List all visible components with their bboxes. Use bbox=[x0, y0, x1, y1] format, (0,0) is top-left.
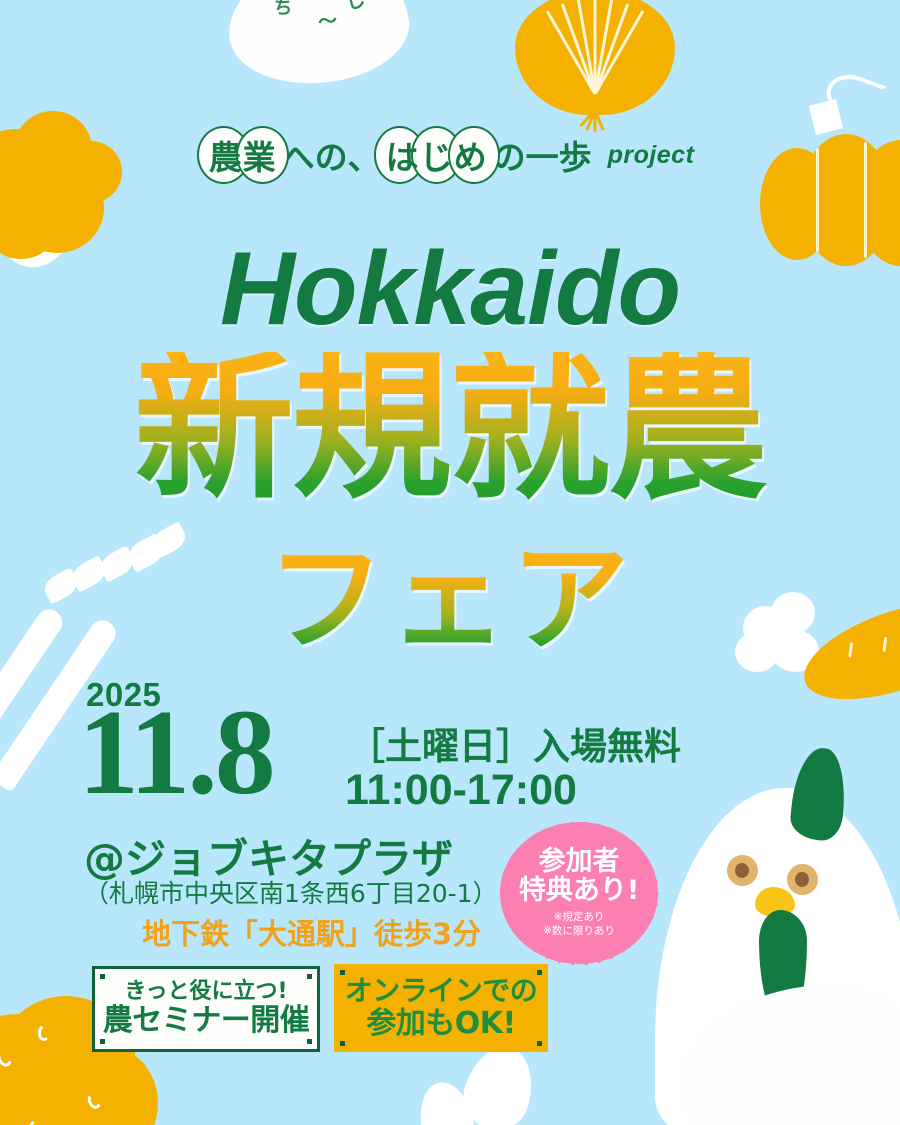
callout-row: きっと役に立つ! 農セミナー開催 オンラインでの 参加もOK! bbox=[0, 966, 900, 1052]
badge-line-2: 特典あり! bbox=[519, 876, 639, 905]
seminar-callout-line-2: 農セミナー開催 bbox=[103, 1004, 310, 1038]
tagline: 農業 への、 はじめ の一歩 project bbox=[0, 131, 900, 179]
badge-line-1: 参加者 bbox=[539, 847, 620, 876]
poster-canvas: ち ～ し bbox=[0, 0, 900, 1125]
badge-content: 参加者 特典あり! ※規定あり ※数に限りあり bbox=[500, 822, 658, 964]
title-english: Hokkaido bbox=[0, 237, 900, 341]
badge-note-1: ※規定あり bbox=[554, 911, 605, 925]
tagline-bubble-1-text: 農業 bbox=[209, 131, 277, 179]
tagline-project-text: project bbox=[608, 141, 695, 170]
online-callout-line-2: 参加もOK! bbox=[366, 1007, 515, 1041]
online-callout-box[interactable]: オンラインでの 参加もOK! bbox=[334, 964, 548, 1052]
venue-address: （札幌市中央区南1条西6丁目20-1） bbox=[84, 874, 498, 910]
venue-access: 地下鉄「大通駅」徒歩3分 bbox=[142, 911, 481, 953]
status-badge: 参加者 特典あり! ※規定あり ※数に限りあり bbox=[500, 822, 658, 964]
online-callout-line-1: オンラインでの bbox=[345, 975, 538, 1007]
tagline-mid-text: への、 bbox=[282, 131, 381, 179]
title-sub: フェア bbox=[0, 540, 900, 658]
seminar-callout-box[interactable]: きっと役に立つ! 農セミナー開催 bbox=[92, 966, 320, 1052]
event-time: 11:00-17:00 bbox=[345, 766, 577, 815]
tagline-bubble-nogyo: 農業 bbox=[206, 131, 280, 179]
tagline-bubble-2-text: はじめ bbox=[386, 131, 488, 179]
title-main: 新規就農 bbox=[0, 352, 900, 504]
tagline-tail-text: の一歩 bbox=[493, 131, 592, 179]
badge-note-2: ※数に限りあり bbox=[543, 925, 615, 939]
content-layer: 農業 への、 はじめ の一歩 project Hokkaido 新規就農 フェア… bbox=[0, 0, 900, 1125]
event-dayofweek-admission: ［土曜日］入場無料 bbox=[348, 716, 681, 770]
event-date: 11.8 bbox=[78, 692, 273, 814]
tagline-bubble-hajime: はじめ bbox=[383, 131, 491, 179]
seminar-callout-line-1: きっと役に立つ! bbox=[124, 980, 287, 1004]
